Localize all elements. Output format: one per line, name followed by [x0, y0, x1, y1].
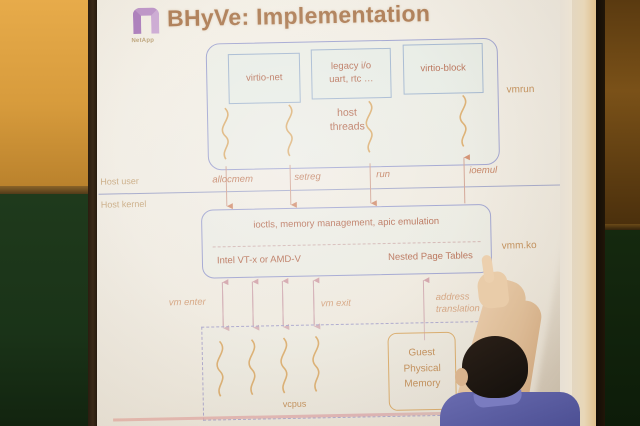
photo-of-projected-slide: NetApp BHyVe: Implementation virtio-net … — [0, 0, 640, 426]
vcpus-label: vcpus — [283, 399, 307, 409]
right-wood-panel — [605, 0, 640, 228]
presenter-head — [462, 336, 528, 398]
left-wood-panel — [0, 0, 97, 190]
left-chalkboard — [0, 194, 97, 426]
presenter-ear — [455, 368, 468, 386]
right-chalkboard — [605, 230, 640, 426]
